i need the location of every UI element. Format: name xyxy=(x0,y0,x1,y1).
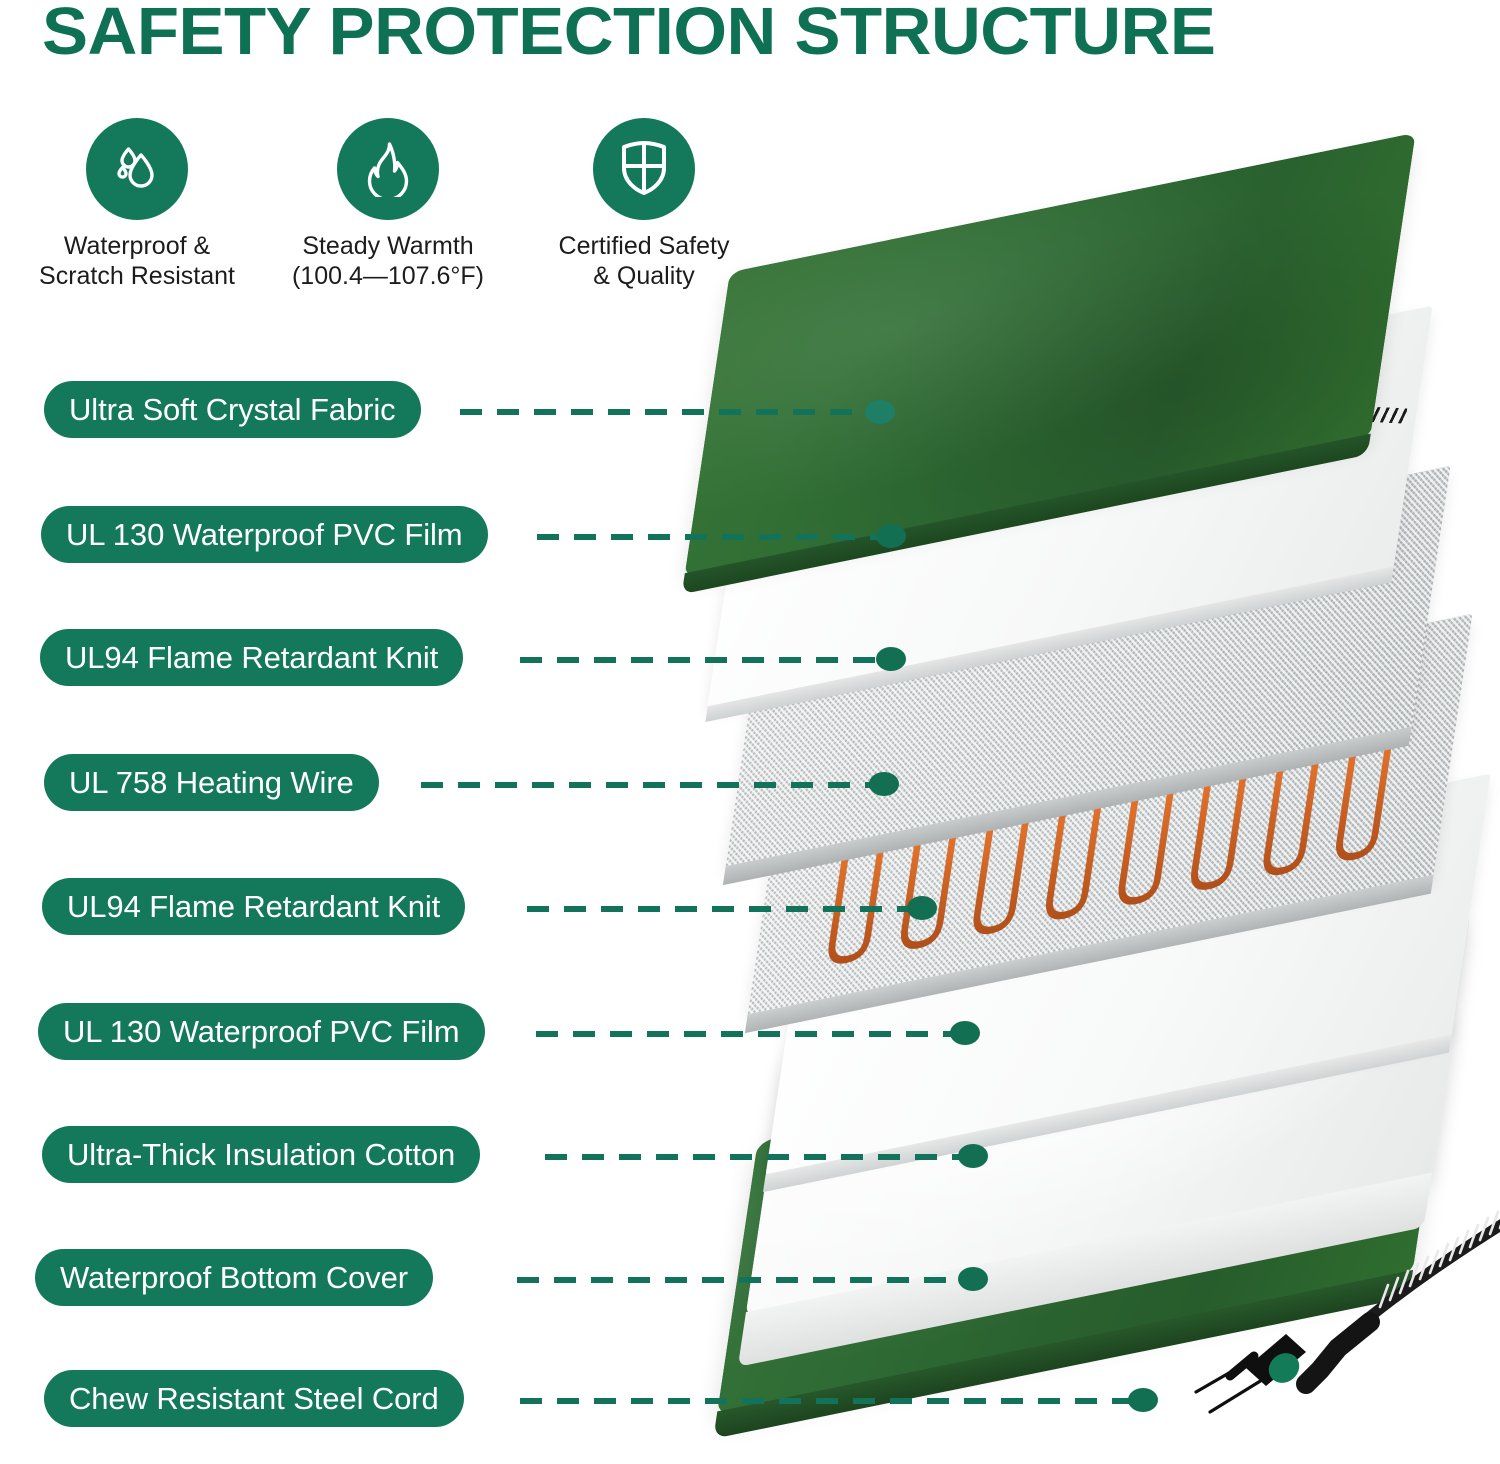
layer-label-ul130-waterproof-pvc-film-2[interactable]: UL 130 Waterproof PVC Film xyxy=(38,1003,485,1060)
layer-label-waterproof-bottom-cover[interactable]: Waterproof Bottom Cover xyxy=(35,1249,433,1306)
layer-label-ultra-thick-insulation-cotton[interactable]: Ultra-Thick Insulation Cotton xyxy=(42,1126,480,1183)
leader-dot-1 xyxy=(876,524,906,548)
leader-line-1 xyxy=(537,534,880,540)
feature-icon-circle xyxy=(86,118,188,220)
layer-label-ul130-waterproof-pvc-film-1[interactable]: UL 130 Waterproof PVC Film xyxy=(41,506,488,563)
layer-label-chew-resistant-steel-cord[interactable]: Chew Resistant Steel Cord xyxy=(44,1370,464,1427)
leader-dot-2 xyxy=(876,647,906,671)
leader-line-2 xyxy=(520,657,882,663)
layer-label-ultra-soft-crystal-fabric[interactable]: Ultra Soft Crystal Fabric xyxy=(44,381,421,438)
leader-line-6 xyxy=(545,1154,963,1160)
leader-line-4 xyxy=(527,906,911,912)
leader-dot-5 xyxy=(950,1021,980,1045)
infographic-canvas: SAFETY PROTECTION STRUCTURE Waterproof &… xyxy=(0,0,1500,1464)
leader-dot-7 xyxy=(958,1267,988,1291)
feature-icon-circle xyxy=(593,118,695,220)
leader-line-8 xyxy=(520,1398,1134,1404)
leader-line-7 xyxy=(517,1277,963,1283)
feature-caption: Waterproof &Scratch Resistant xyxy=(26,231,248,291)
leader-dot-3 xyxy=(869,772,899,796)
leader-line-3 xyxy=(421,782,881,788)
flame-icon xyxy=(358,137,418,202)
layer-label-ul94-flame-retardant-knit-2[interactable]: UL94 Flame Retardant Knit xyxy=(42,878,465,935)
leader-line-5 xyxy=(536,1031,955,1037)
feature-steady-warmth: Steady Warmth(100.4—107.6°F) xyxy=(272,118,504,291)
water-drops-icon xyxy=(106,136,168,203)
feature-icon-circle xyxy=(337,118,439,220)
feature-waterproof: Waterproof &Scratch Resistant xyxy=(26,118,248,291)
plug-body xyxy=(1230,1334,1306,1389)
product-exploded-view: Outdoor Pet Heati CE UKCA xyxy=(690,150,1500,1460)
leader-dot-4 xyxy=(907,896,937,920)
leader-dot-0 xyxy=(865,400,895,424)
leader-line-0 xyxy=(460,409,874,415)
page-title: SAFETY PROTECTION STRUCTURE xyxy=(42,0,1484,68)
layer-label-ul758-heating-wire[interactable]: UL 758 Heating Wire xyxy=(44,754,379,811)
layer-label-ul94-flame-retardant-knit-1[interactable]: UL94 Flame Retardant Knit xyxy=(40,629,463,686)
shield-cross-icon xyxy=(615,137,673,202)
feature-caption: Steady Warmth(100.4—107.6°F) xyxy=(272,231,504,291)
leader-dot-8 xyxy=(1128,1388,1158,1412)
leader-dot-6 xyxy=(958,1144,988,1168)
